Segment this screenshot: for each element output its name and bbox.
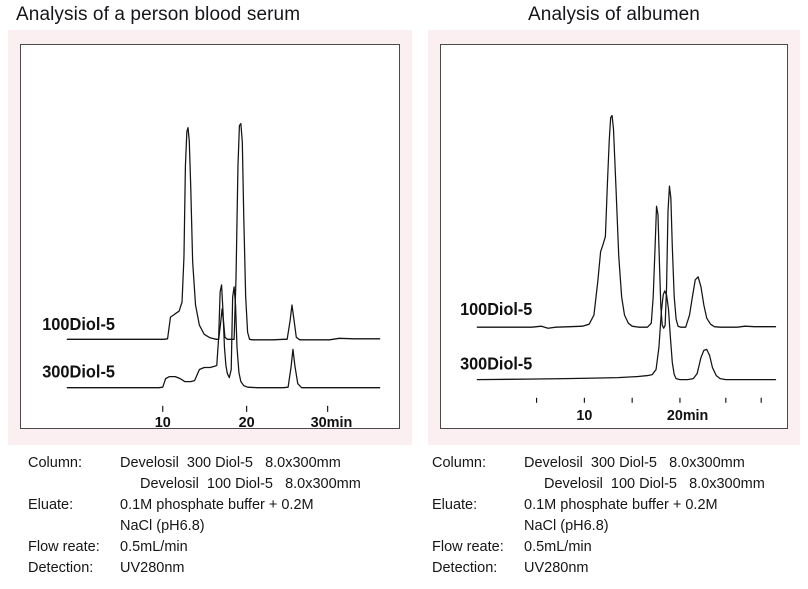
axis-label-20min-right: 20min bbox=[667, 408, 708, 424]
caption-row-column-right: Column: Develosil 300 Diol-5 8.0x300mm bbox=[432, 453, 808, 474]
caption-label-detection-left: Detection: bbox=[28, 558, 120, 579]
trace-100diol5-left: 100Diol-5 bbox=[42, 124, 380, 340]
caption-value-eluate1-left: 0.1M phosphate buffer + 0.2M bbox=[120, 495, 420, 516]
trace-100diol5-right: 100Diol-5 bbox=[460, 116, 775, 329]
caption-value-column1-left: Develosil 300 Diol-5 8.0x300mm bbox=[120, 453, 420, 474]
caption-label-eluate-right: Eluate: bbox=[432, 495, 524, 516]
trace-path-100diol5-right bbox=[477, 116, 775, 329]
caption-value-eluate2-right: NaCl (pH6.8) bbox=[524, 516, 808, 537]
chart-mount-left: 100Diol-5 300Diol-5 10 20 30min bbox=[8, 30, 412, 445]
caption-row-eluate2-left: NaCl (pH6.8) bbox=[28, 516, 420, 537]
chart-mount-right: 100Diol-5 300Diol-5 bbox=[428, 30, 800, 445]
chart-box-left: 100Diol-5 300Diol-5 10 20 30min bbox=[20, 44, 400, 429]
caption-row-column-left: Column: Develosil 300 Diol-5 8.0x300mm bbox=[28, 453, 420, 474]
trace-path-100diol5-left bbox=[67, 124, 379, 340]
caption-label-column-left: Column: bbox=[28, 453, 120, 474]
panel-blood-serum: Analysis of a person blood serum 100Diol… bbox=[0, 0, 420, 589]
chromatogram-right: 100Diol-5 300Diol-5 bbox=[441, 45, 787, 428]
caption-label-flow-right: Flow reate: bbox=[432, 537, 524, 558]
x-axis-left: 10 20 30min bbox=[155, 406, 353, 428]
panel-albumen: Analysis of albumen 100Diol-5 300Diol-5 bbox=[420, 0, 808, 589]
caption-row-flow-right: Flow reate: 0.5mL/min bbox=[432, 537, 808, 558]
caption-value-column2-right: Develosil 100 Diol-5 8.0x300mm bbox=[544, 474, 808, 495]
axis-label-10-right: 10 bbox=[576, 408, 592, 424]
axis-label-20-left: 20 bbox=[239, 415, 255, 428]
caption-right: Column: Develosil 300 Diol-5 8.0x300mm D… bbox=[420, 445, 808, 579]
caption-row-flow-left: Flow reate: 0.5mL/min bbox=[28, 537, 420, 558]
caption-value-flow-right: 0.5mL/min bbox=[524, 537, 808, 558]
panel-title-right: Analysis of albumen bbox=[420, 0, 808, 30]
caption-value-flow-left: 0.5mL/min bbox=[120, 537, 420, 558]
trace-label-300diol5-left: 300Diol-5 bbox=[42, 362, 115, 381]
trace-300diol5-left: 300Diol-5 bbox=[42, 285, 380, 388]
chart-box-right: 100Diol-5 300Diol-5 bbox=[440, 44, 788, 429]
caption-label-detection-right: Detection: bbox=[432, 558, 524, 579]
caption-block-right: Column: Develosil 300 Diol-5 8.0x300mm D… bbox=[420, 445, 808, 579]
caption-block-left: Column: Develosil 300 Diol-5 8.0x300mm D… bbox=[0, 445, 420, 579]
trace-label-100diol5-left: 100Diol-5 bbox=[42, 315, 115, 334]
caption-row-detection-right: Detection: UV280nm bbox=[432, 558, 808, 579]
caption-value-detection-left: UV280nm bbox=[120, 558, 420, 579]
panel-title-left: Analysis of a person blood serum bbox=[0, 0, 420, 30]
x-axis-right: 10 20min bbox=[537, 398, 762, 424]
caption-value-eluate1-right: 0.1M phosphate buffer + 0.2M bbox=[524, 495, 808, 516]
caption-row-eluate2-right: NaCl (pH6.8) bbox=[432, 516, 808, 537]
caption-value-column1-right: Develosil 300 Diol-5 8.0x300mm bbox=[524, 453, 808, 474]
axis-label-10-left: 10 bbox=[155, 415, 171, 428]
caption-left: Column: Develosil 300 Diol-5 8.0x300mm D… bbox=[0, 445, 420, 579]
caption-row-eluate-right: Eluate: 0.1M phosphate buffer + 0.2M bbox=[432, 495, 808, 516]
caption-label-column-right: Column: bbox=[432, 453, 524, 474]
caption-row-detection-left: Detection: UV280nm bbox=[28, 558, 420, 579]
caption-row-column2-left: Develosil 100 Diol-5 8.0x300mm bbox=[28, 474, 420, 495]
caption-label-eluate-left: Eluate: bbox=[28, 495, 120, 516]
caption-value-eluate2-left: NaCl (pH6.8) bbox=[120, 516, 420, 537]
caption-value-column2-left: Develosil 100 Diol-5 8.0x300mm bbox=[140, 474, 420, 495]
trace-label-300diol5-right: 300Diol-5 bbox=[460, 354, 532, 373]
caption-row-eluate-left: Eluate: 0.1M phosphate buffer + 0.2M bbox=[28, 495, 420, 516]
trace-label-100diol5-right: 100Diol-5 bbox=[460, 300, 532, 319]
chromatogram-left: 100Diol-5 300Diol-5 10 20 30min bbox=[21, 45, 399, 428]
caption-label-flow-left: Flow reate: bbox=[28, 537, 120, 558]
axis-label-30min-left: 30min bbox=[311, 415, 353, 428]
caption-row-column2-right: Develosil 100 Diol-5 8.0x300mm bbox=[432, 474, 808, 495]
figure-root: Analysis of a person blood serum 100Diol… bbox=[0, 0, 808, 589]
caption-value-detection-right: UV280nm bbox=[524, 558, 808, 579]
